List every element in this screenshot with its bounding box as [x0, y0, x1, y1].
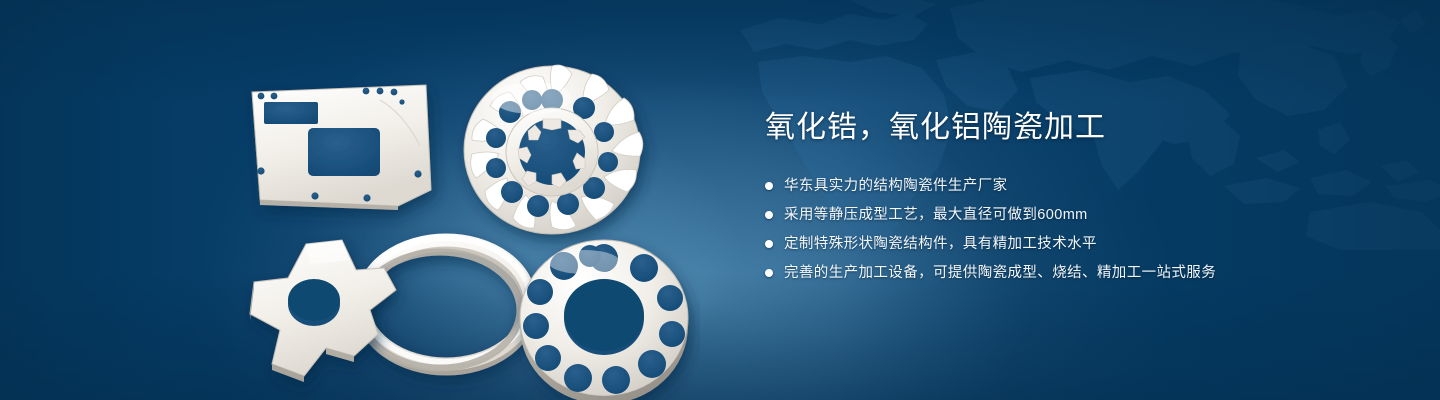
list-item: 采用等静压成型工艺，最大直径可做到600mm — [765, 203, 1365, 227]
bullet-dot-icon — [765, 182, 773, 190]
banner-copy: 氧化锆，氧化铝陶瓷加工 华东具实力的结构陶瓷件生产厂家 采用等静压成型工艺，最大… — [765, 108, 1365, 290]
ceramic-perforated-ring-plate — [520, 240, 688, 400]
product-image-cluster — [230, 40, 700, 400]
list-item-label: 定制特殊形状陶瓷结构件，具有精加工技术水平 — [784, 232, 1097, 256]
list-item-label: 完善的生产加工设备，可提供陶瓷成型、烧结、精加工一站式服务 — [784, 261, 1216, 285]
list-item: 华东具实力的结构陶瓷件生产厂家 — [765, 174, 1365, 198]
ceramic-machined-plate — [252, 85, 431, 210]
page-title: 氧化锆，氧化铝陶瓷加工 — [765, 108, 1365, 148]
bullet-dot-icon — [765, 211, 773, 219]
ceramic-impeller-rotor — [464, 65, 643, 234]
list-item-label: 华东具实力的结构陶瓷件生产厂家 — [784, 174, 1008, 198]
list-item: 定制特殊形状陶瓷结构件，具有精加工技术水平 — [765, 232, 1365, 256]
hero-banner: 氧化锆，氧化铝陶瓷加工 华东具实力的结构陶瓷件生产厂家 采用等静压成型工艺，最大… — [0, 0, 1440, 400]
ceramic-thin-ring — [360, 238, 530, 368]
bullet-dot-icon — [765, 269, 773, 277]
list-item-label: 采用等静压成型工艺，最大直径可做到600mm — [784, 203, 1088, 227]
feature-list: 华东具实力的结构陶瓷件生产厂家 采用等静压成型工艺，最大直径可做到600mm 定… — [765, 174, 1365, 285]
bullet-dot-icon — [765, 240, 773, 248]
list-item: 完善的生产加工设备，可提供陶瓷成型、烧结、精加工一站式服务 — [765, 261, 1365, 285]
